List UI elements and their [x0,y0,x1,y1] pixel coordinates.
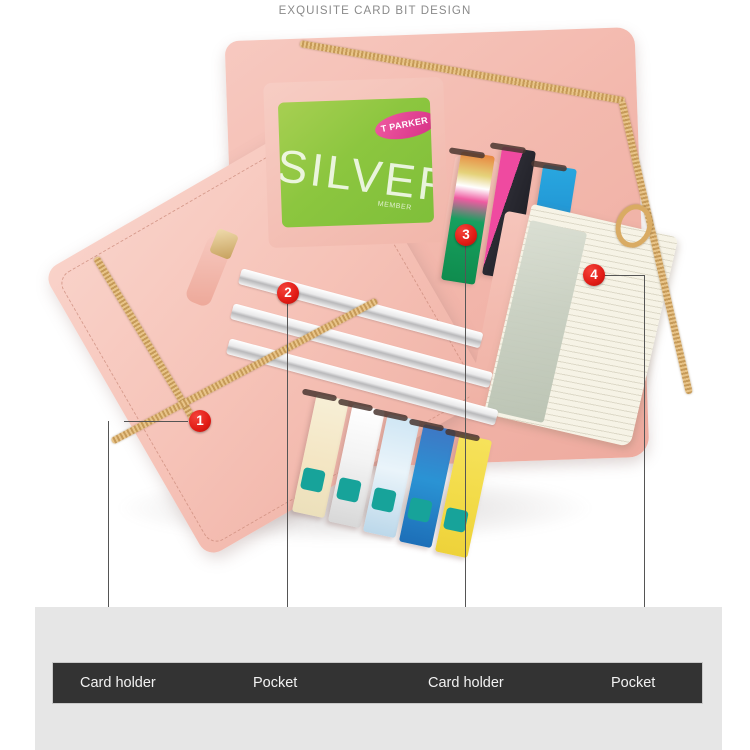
callout-marker-2[interactable]: 2 [277,282,299,304]
leader-line-1-stub [124,421,188,422]
legend-label-1: Card holder [80,675,156,691]
brand-badge: T PARKER [373,107,434,144]
id-card: SILVER MEMBER T PARKER [278,97,434,227]
leader-line-4-stub [604,275,644,276]
card-chip [407,497,433,523]
id-card-text: SILVER [278,138,434,215]
callout-marker-4[interactable]: 4 [583,264,605,286]
leader-line-2 [287,300,288,650]
card-chip [371,487,397,513]
page-title: EXQUISITE CARD BIT DESIGN [0,5,750,17]
brand-badge-label: T PARKER [380,115,429,134]
card-chip [336,477,362,503]
infographic-root: EXQUISITE CARD BIT DESIGN SILVER MEMBER … [0,0,750,750]
card-chip [300,467,326,493]
callout-marker-1[interactable]: 1 [189,410,211,432]
legend-label-2: Pocket [253,675,297,691]
product-photo: SILVER MEMBER T PARKER [0,18,750,608]
leader-line-3 [465,243,466,650]
legend-bar: Card holder Pocket Card holder Pocket [52,662,703,704]
legend-label-4: Pocket [611,675,655,691]
callout-marker-3[interactable]: 3 [455,224,477,246]
legend-label-3: Card holder [428,675,504,691]
leader-line-4 [644,275,645,650]
